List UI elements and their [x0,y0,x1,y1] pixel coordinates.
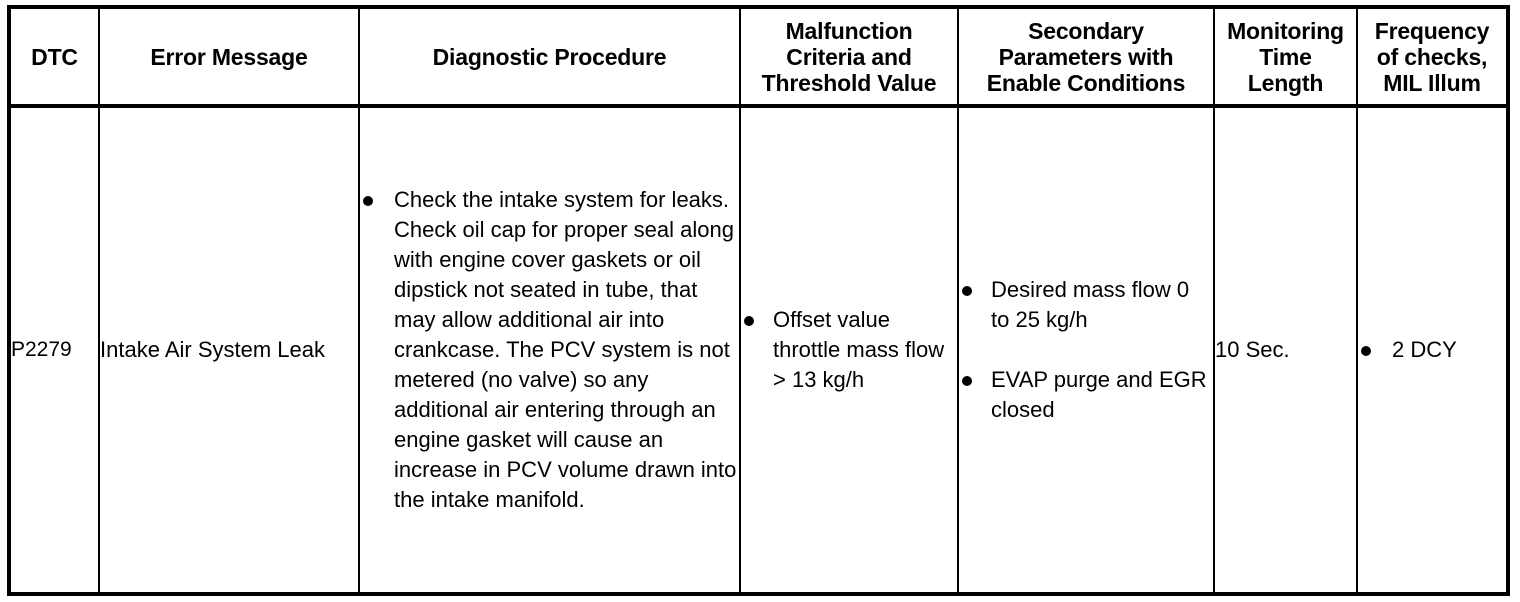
diagnostic-procedure-list: Check the intake system for leaks. Check… [360,185,739,515]
column-header-error-message: Error Message [99,7,359,106]
cell-secondary-parameters: Desired mass flow 0 to 25 kg/h EVAP purg… [958,106,1214,594]
column-header-malfunction-criteria: Malfunction Criteria and Threshold Value [740,7,958,106]
list-item: Offset value throttle mass flow > 13 kg/… [741,305,957,395]
column-header-frequency-of-checks: Frequency of checks, MIL Illum [1357,7,1508,106]
secondary-parameters-list: Desired mass flow 0 to 25 kg/h EVAP purg… [959,275,1213,425]
frequency-of-checks-list: 2 DCY [1358,335,1506,365]
malfunction-criteria-list: Offset value throttle mass flow > 13 kg/… [741,305,957,395]
list-item: EVAP purge and EGR closed [959,365,1213,425]
table-header: DTC Error Message Diagnostic Procedure M… [9,7,1508,106]
cell-error-message: Intake Air System Leak [99,106,359,594]
column-header-dtc: DTC [9,7,99,106]
column-header-diagnostic-procedure: Diagnostic Procedure [359,7,740,106]
cell-frequency-of-checks: 2 DCY [1357,106,1508,594]
list-item: Check the intake system for leaks. Check… [360,185,739,515]
table-row: P2279 Intake Air System Leak Check the i… [9,106,1508,594]
column-header-monitoring-time-length: Monitoring Time Length [1214,7,1357,106]
list-item: Desired mass flow 0 to 25 kg/h [959,275,1213,335]
dtc-table: DTC Error Message Diagnostic Procedure M… [7,5,1510,596]
dtc-table-container: DTC Error Message Diagnostic Procedure M… [7,5,1506,596]
cell-diagnostic-procedure: Check the intake system for leaks. Check… [359,106,740,594]
cell-malfunction-criteria: Offset value throttle mass flow > 13 kg/… [740,106,958,594]
table-header-row: DTC Error Message Diagnostic Procedure M… [9,7,1508,106]
cell-dtc: P2279 [9,106,99,594]
column-header-secondary-parameters: Secondary Parameters with Enable Conditi… [958,7,1214,106]
cell-monitoring-time-length: 10 Sec. [1214,106,1357,594]
list-item: 2 DCY [1358,335,1506,365]
table-body: P2279 Intake Air System Leak Check the i… [9,106,1508,594]
